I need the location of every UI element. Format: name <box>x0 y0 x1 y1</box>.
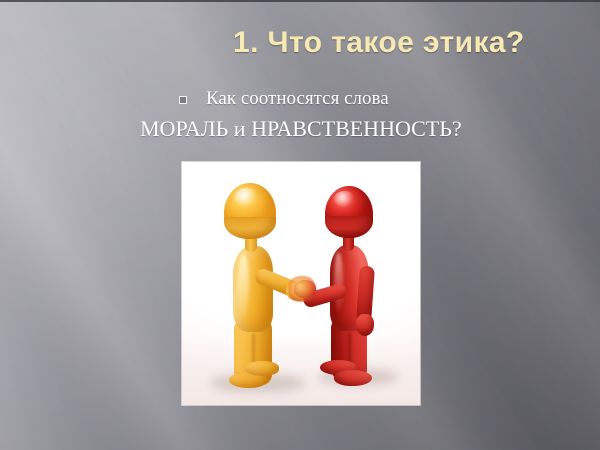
square-bullet-icon <box>179 96 187 104</box>
red-figure-torso-highlight <box>334 252 343 312</box>
orange-figure-foot-right <box>245 361 279 376</box>
red-figure-head-band <box>325 216 373 238</box>
figures-group <box>182 162 420 405</box>
handshake-clasp <box>288 276 316 302</box>
orange-figure-head-band <box>224 217 276 239</box>
slide-title: 1. Что такое этика? <box>233 26 593 60</box>
red-figure-foot-right <box>334 370 372 386</box>
orange-figure-torso-highlight <box>238 254 249 316</box>
slide-body: Как соотносятся слова МОРАЛЬ и НРАВСТВЕН… <box>0 88 600 114</box>
bullet-text: Как соотносятся слова <box>206 88 389 110</box>
red-figure-head-highlight <box>334 191 355 207</box>
bullet-line: Как соотносятся слова <box>0 88 600 114</box>
handshake-image <box>182 162 420 405</box>
orange-figure-head-highlight <box>234 188 258 206</box>
slide-top-edge <box>0 0 600 2</box>
red-figure-hand-right <box>356 314 374 336</box>
subtitle-text: МОРАЛЬ и НРАВСТВЕННОСТЬ? <box>140 116 462 142</box>
presentation-slide: 1. Что такое этика? Как соотносятся слов… <box>0 0 600 450</box>
